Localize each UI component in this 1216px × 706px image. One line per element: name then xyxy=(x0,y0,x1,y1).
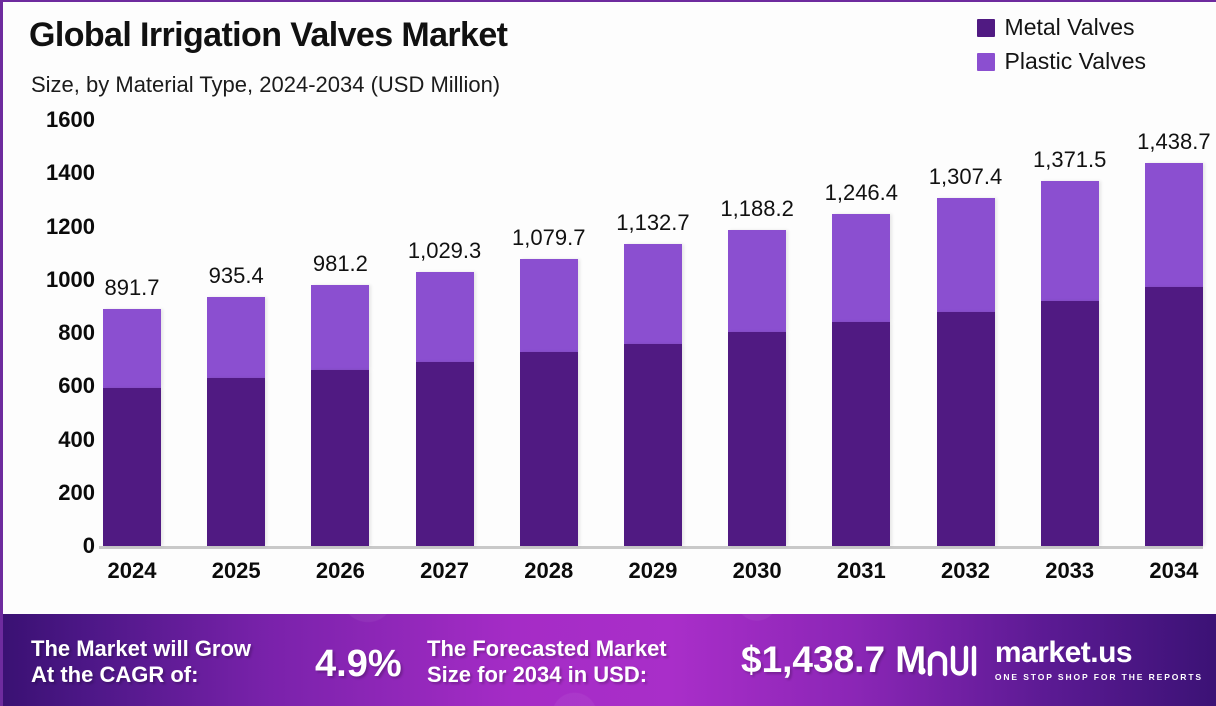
bar-column-2026[interactable]: 981.2 xyxy=(311,120,369,546)
bar-segment-metal-valves[interactable] xyxy=(1145,287,1203,546)
bar-column-2024[interactable]: 891.7 xyxy=(103,120,161,546)
bar-segment-metal-valves[interactable] xyxy=(624,344,682,546)
bar-segment-plastic-valves[interactable] xyxy=(1145,163,1203,287)
bar-column-2032[interactable]: 1,307.4 xyxy=(937,120,995,546)
bar-segment-metal-valves[interactable] xyxy=(103,388,161,546)
bar-column-2034[interactable]: 1,438.7 xyxy=(1145,120,1203,546)
x-axis-line xyxy=(99,546,1203,549)
forecast-value: $1,438.7 M xyxy=(741,638,926,682)
bar-segment-metal-valves[interactable] xyxy=(207,378,265,546)
bar-segment-plastic-valves[interactable] xyxy=(103,309,161,388)
bar-segment-plastic-valves[interactable] xyxy=(416,272,474,362)
y-axis: 02004006008001000120014001600 xyxy=(21,120,95,556)
y-axis-tick-label: 1600 xyxy=(46,107,95,133)
bar-segment-metal-valves[interactable] xyxy=(937,312,995,546)
x-axis-tick-label: 2025 xyxy=(207,558,265,592)
bar-value-label: 891.7 xyxy=(104,275,159,301)
y-axis-tick-label: 1200 xyxy=(46,214,95,240)
x-axis-tick-label: 2032 xyxy=(937,558,995,592)
x-axis-tick-label: 2029 xyxy=(624,558,682,592)
y-axis-tick-label: 200 xyxy=(58,480,95,506)
bar-segment-plastic-valves[interactable] xyxy=(1041,181,1099,301)
bar-segment-metal-valves[interactable] xyxy=(1041,301,1099,546)
x-axis-tick-label: 2026 xyxy=(311,558,369,592)
bar-value-label: 1,079.7 xyxy=(512,225,585,251)
bar-column-2028[interactable]: 1,079.7 xyxy=(520,120,578,546)
plot-area: 02004006008001000120014001600 891.7935.4… xyxy=(3,2,1216,614)
y-axis-tick-label: 800 xyxy=(58,320,95,346)
bar-value-label: 1,188.2 xyxy=(720,196,793,222)
cagr-value: 4.9% xyxy=(315,642,402,687)
bar-series-group: 891.7935.4981.21,029.31,079.71,132.71,18… xyxy=(103,120,1203,546)
y-axis-tick-label: 1000 xyxy=(46,267,95,293)
x-axis: 2024202520262027202820292030203120322033… xyxy=(103,558,1203,592)
bar-segment-metal-valves[interactable] xyxy=(520,352,578,546)
x-axis-tick-label: 2034 xyxy=(1145,558,1203,592)
bar-column-2029[interactable]: 1,132.7 xyxy=(624,120,682,546)
bar-segment-metal-valves[interactable] xyxy=(416,362,474,546)
brand-logo[interactable]: market.us ONE STOP SHOP FOR THE REPORTS xyxy=(917,638,1203,682)
y-axis-tick-label: 1400 xyxy=(46,160,95,186)
bar-segment-metal-valves[interactable] xyxy=(311,370,369,546)
bar-segment-metal-valves[interactable] xyxy=(728,332,786,546)
chart-infographic: Global Irrigation Valves Market Size, by… xyxy=(0,0,1216,706)
bar-column-2027[interactable]: 1,029.3 xyxy=(416,120,474,546)
bar-value-label: 1,307.4 xyxy=(929,164,1002,190)
bar-column-2030[interactable]: 1,188.2 xyxy=(728,120,786,546)
bar-value-label: 1,029.3 xyxy=(408,238,481,264)
y-axis-tick-label: 0 xyxy=(83,533,95,559)
bar-column-2031[interactable]: 1,246.4 xyxy=(832,120,890,546)
cagr-label: The Market will Grow At the CAGR of: xyxy=(31,636,251,688)
y-axis-tick-label: 600 xyxy=(58,373,95,399)
bar-value-label: 981.2 xyxy=(313,251,368,277)
footer-banner: The Market will Grow At the CAGR of: 4.9… xyxy=(3,614,1216,706)
bar-segment-plastic-valves[interactable] xyxy=(520,259,578,353)
bar-segment-plastic-valves[interactable] xyxy=(937,198,995,312)
x-axis-tick-label: 2024 xyxy=(103,558,161,592)
x-axis-tick-label: 2033 xyxy=(1041,558,1099,592)
y-axis-tick-label: 400 xyxy=(58,427,95,453)
market-us-logo-icon xyxy=(917,640,983,680)
x-axis-tick-label: 2028 xyxy=(520,558,578,592)
x-axis-tick-label: 2030 xyxy=(728,558,786,592)
forecast-label: The Forecasted Market Size for 2034 in U… xyxy=(427,636,667,688)
bar-segment-metal-valves[interactable] xyxy=(832,322,890,546)
bar-value-label: 1,438.7 xyxy=(1137,129,1210,155)
bar-column-2033[interactable]: 1,371.5 xyxy=(1041,120,1099,546)
bar-value-label: 1,246.4 xyxy=(825,180,898,206)
bar-value-label: 935.4 xyxy=(209,263,264,289)
brand-tagline: ONE STOP SHOP FOR THE REPORTS xyxy=(995,672,1203,682)
bar-segment-plastic-valves[interactable] xyxy=(624,244,682,343)
bar-segment-plastic-valves[interactable] xyxy=(832,214,890,322)
x-axis-tick-label: 2031 xyxy=(832,558,890,592)
bar-segment-plastic-valves[interactable] xyxy=(311,285,369,371)
bar-column-2025[interactable]: 935.4 xyxy=(207,120,265,546)
bar-value-label: 1,371.5 xyxy=(1033,147,1106,173)
x-axis-tick-label: 2027 xyxy=(416,558,474,592)
bar-segment-plastic-valves[interactable] xyxy=(728,230,786,333)
bar-segment-plastic-valves[interactable] xyxy=(207,297,265,378)
brand-name: market.us xyxy=(995,638,1132,668)
bar-value-label: 1,132.7 xyxy=(616,210,689,236)
